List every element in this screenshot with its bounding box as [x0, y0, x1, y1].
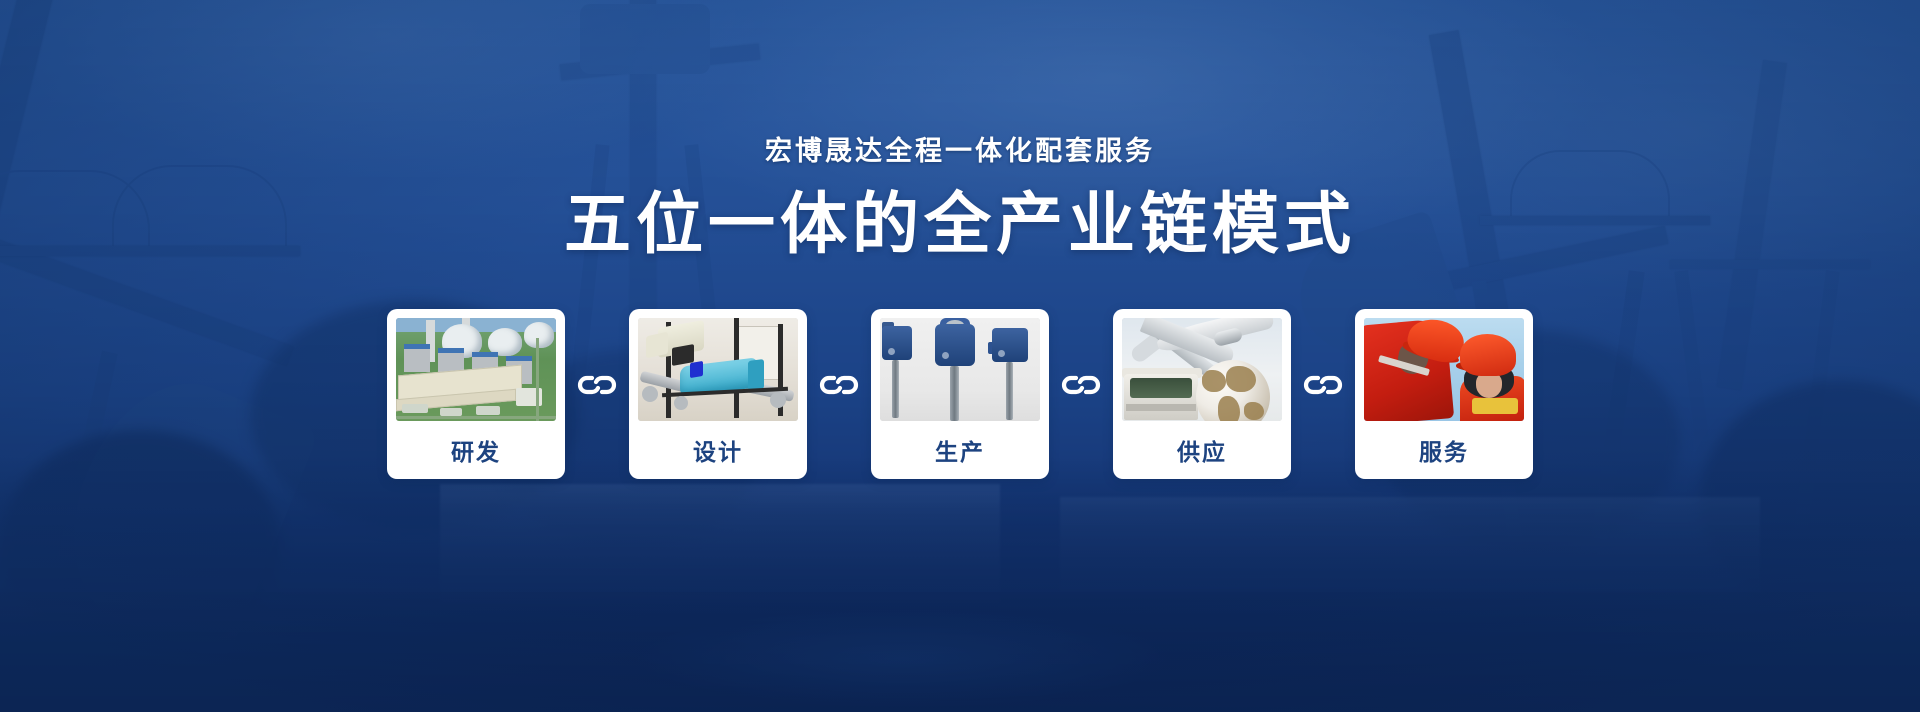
- value-chain-row: 研发: [387, 309, 1533, 479]
- chain-card-production[interactable]: 生产: [871, 309, 1049, 479]
- banner-title: 五位一体的全产业链模式: [564, 189, 1356, 261]
- chain-card-service-label: 服务: [1419, 421, 1469, 479]
- chain-link-icon: [807, 372, 871, 398]
- chain-link-icon: [1291, 372, 1355, 398]
- chain-link-icon: [565, 372, 629, 398]
- chain-card-design[interactable]: 设计: [629, 309, 807, 479]
- chain-card-supply[interactable]: 供应: [1113, 309, 1291, 479]
- chain-card-rd-image: [396, 318, 556, 421]
- chain-card-supply-image: [1122, 318, 1282, 421]
- chain-card-rd[interactable]: 研发: [387, 309, 565, 479]
- chain-link-icon: [1049, 372, 1113, 398]
- chain-card-production-label: 生产: [935, 421, 985, 479]
- chain-card-service-image: [1364, 318, 1524, 421]
- banner-subtitle: 宏博晟达全程一体化配套服务: [765, 138, 1155, 165]
- chain-card-service[interactable]: 服务: [1355, 309, 1533, 479]
- chain-card-supply-label: 供应: [1177, 421, 1227, 479]
- banner-content: 宏博晟达全程一体化配套服务 五位一体的全产业链模式 研发: [0, 0, 1920, 712]
- chain-card-rd-label: 研发: [451, 421, 501, 479]
- chain-card-design-image: [638, 318, 798, 421]
- hero-banner: 宏博晟达全程一体化配套服务 五位一体的全产业链模式 研发: [0, 0, 1920, 712]
- chain-card-design-label: 设计: [693, 421, 743, 479]
- chain-card-production-image: [880, 318, 1040, 421]
